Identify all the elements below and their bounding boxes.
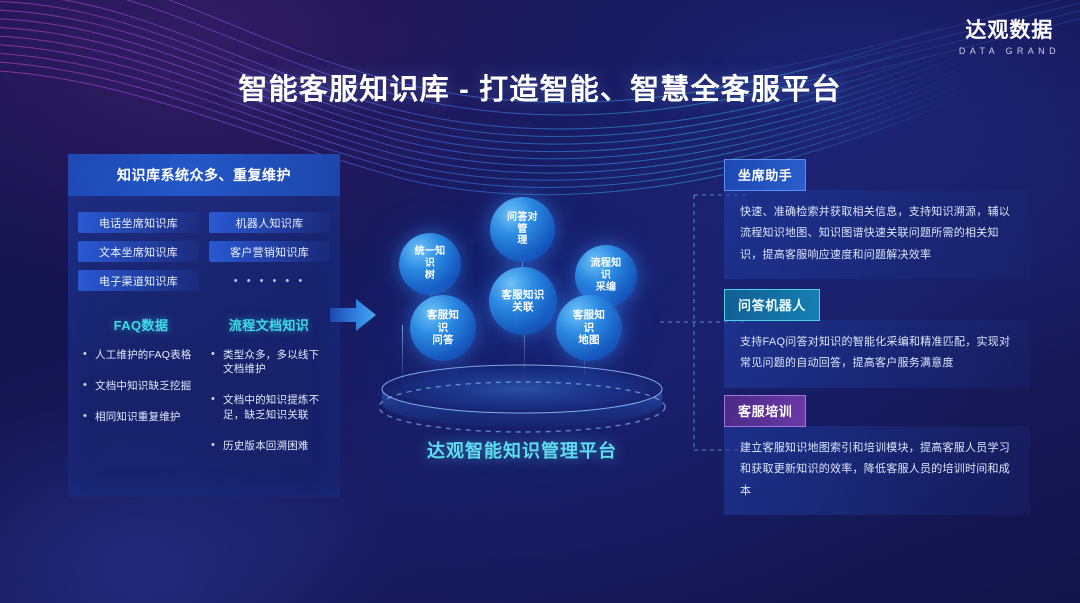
problem-column-faq: FAQ数据 人工维护的FAQ表格 文档中知识缺乏挖掘 相同知识重复维护	[82, 315, 200, 470]
node-label-line: 地图	[562, 334, 616, 346]
problem-bullet: 人工维护的FAQ表格	[82, 348, 200, 362]
problem-column-process-doc: 流程文档知识 类型众多，多以线下文档维护 文档中的知识提炼不足，缺乏知识关联 历…	[210, 315, 328, 470]
feature-card-qa-robot: 问答机器人 支持FAQ问答对知识的智能化采编和精准匹配，实现对常见问题的自动回答…	[724, 288, 1030, 388]
node-label-line: 关联	[495, 301, 550, 313]
node-label-line: 树	[405, 270, 455, 282]
problem-bullet: 相同知识重复维护	[82, 410, 200, 424]
problem-bullet: 文档中的知识提炼不足，缺乏知识关联	[210, 393, 328, 421]
node-label-line: 问答对管	[496, 212, 549, 236]
brand-logo: 达观数据 DATA GRAND	[959, 20, 1060, 56]
node-label-line: 客服知识	[495, 289, 550, 301]
kb-item: 客户营销知识库	[209, 241, 330, 262]
feature-card-tab[interactable]: 坐席助手	[724, 159, 806, 191]
platform-pedestal	[376, 363, 668, 441]
problem-column-heading: 流程文档知识	[210, 315, 328, 334]
node-stem	[402, 325, 403, 385]
node-label-line: 问答	[416, 334, 470, 346]
problem-bullet-list: 类型众多，多以线下文档维护 文档中的知识提炼不足，缺乏知识关联 历史版本回溯困难	[210, 348, 328, 453]
feature-card-tab[interactable]: 客服培训	[724, 395, 806, 427]
node-label-line: 客服知识	[416, 309, 470, 334]
knowledge-base-list: 电话坐席知识库 机器人知识库 文本坐席知识库 客户营销知识库 电子渠道知识库 •…	[68, 196, 340, 291]
problem-bullet-list: 人工维护的FAQ表格 文档中知识缺乏挖掘 相同知识重复维护	[82, 348, 200, 425]
node-service-knowledge-linking[interactable]: 客服知识 关联	[489, 267, 557, 335]
node-service-knowledge-qa[interactable]: 客服知识 问答	[410, 295, 476, 361]
feature-card-body: 快速、准确检索并获取相关信息，支持知识溯源，辅以流程知识地图、知识图谱快速关联问…	[724, 190, 1030, 279]
brand-logo-en: DATA GRAND	[959, 46, 1060, 56]
feature-card-tab[interactable]: 问答机器人	[724, 289, 820, 321]
node-qa-pair-management[interactable]: 问答对管 理	[490, 197, 555, 262]
kb-item: 文本坐席知识库	[78, 241, 199, 262]
node-label-line: 流程知识	[581, 258, 631, 282]
feature-card-agent-assistant: 坐席助手 快速、准确检索并获取相关信息，支持知识溯源，辅以流程知识地图、知识图谱…	[724, 158, 1030, 279]
node-unified-knowledge-tree[interactable]: 统一知识 树	[399, 233, 461, 295]
node-label-line: 客服知识	[562, 309, 616, 334]
problems-panel-header: 知识库系统众多、重复维护	[68, 154, 340, 196]
problem-column-heading: FAQ数据	[82, 315, 200, 334]
problem-bullet: 类型众多，多以线下文档维护	[210, 348, 328, 376]
page-title: 智能客服知识库 - 打造智能、智慧全客服平台	[0, 66, 1080, 108]
node-label-line: 理	[496, 235, 549, 247]
slide-canvas: 达观数据 DATA GRAND 智能客服知识库 - 打造智能、智慧全客服平台 知…	[0, 0, 1080, 603]
problem-bullet: 文档中知识缺乏挖掘	[82, 379, 200, 393]
kb-item: 机器人知识库	[209, 212, 330, 233]
problems-panel: 知识库系统众多、重复维护 电话坐席知识库 机器人知识库 文本坐席知识库 客户营销…	[68, 154, 340, 497]
problem-bullet: 历史版本回溯困难	[210, 439, 328, 453]
knowledge-platform-stage: 统一知识 树 问答对管 理 流程知识 采编 客服知识 关联 客服知识	[372, 175, 672, 465]
brand-logo-cn: 达观数据	[959, 20, 1060, 42]
kb-item: 电话坐席知识库	[78, 212, 199, 233]
feature-card-body: 建立客服知识地图索引和培训模块，提高客服人员学习和获取更新知识的效率，降低客服人…	[724, 426, 1030, 515]
node-label-line: 统一知识	[405, 246, 455, 270]
right-arrow-icon	[330, 297, 376, 333]
node-label-line: 采编	[581, 282, 631, 294]
problem-columns: FAQ数据 人工维护的FAQ表格 文档中知识缺乏挖掘 相同知识重复维护 流程文档…	[68, 291, 340, 470]
node-service-knowledge-map[interactable]: 客服知识 地图	[556, 295, 622, 361]
feature-card-agent-training: 客服培训 建立客服知识地图索引和培训模块，提高客服人员学习和获取更新知识的效率，…	[724, 394, 1030, 515]
kb-item: 电子渠道知识库	[78, 270, 199, 291]
platform-label: 达观智能知识管理平台	[372, 437, 672, 463]
feature-card-body: 支持FAQ问答对知识的智能化采编和精准匹配，实现对常见问题的自动回答，提高客户服…	[724, 320, 1030, 388]
kb-item-ellipsis: • • • • • •	[209, 270, 330, 291]
